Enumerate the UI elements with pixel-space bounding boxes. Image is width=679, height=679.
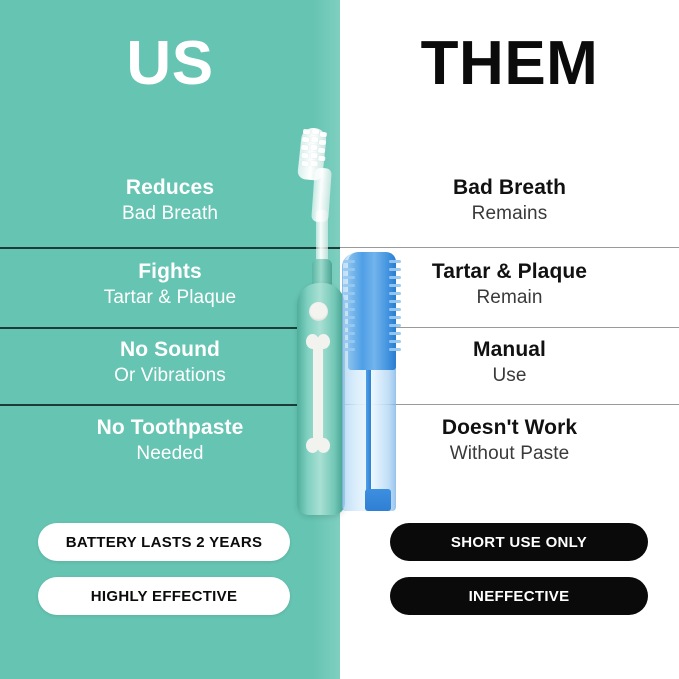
comparison-row-them-3: Manual Use xyxy=(340,336,679,389)
row-divider-1 xyxy=(0,247,679,248)
row-divider-3 xyxy=(0,404,679,405)
comparison-row-them-2: Tartar & Plaque Remain xyxy=(340,258,679,311)
row-secondary-text: Use xyxy=(340,363,679,389)
row-divider-2-left xyxy=(0,327,340,329)
badge-us-1: BATTERY LASTS 2 YEARS xyxy=(38,523,290,561)
row-primary-text: Doesn't Work xyxy=(340,414,679,441)
row-secondary-text: Tartar & Plaque xyxy=(0,285,340,311)
comparison-row-us-2: Fights Tartar & Plaque xyxy=(0,258,340,311)
badge-them-2: INEFFECTIVE xyxy=(390,577,648,615)
comparison-row-them-1: Bad Breath Remains xyxy=(340,174,679,227)
row-divider-1-right xyxy=(340,247,679,248)
row-primary-text: Fights xyxy=(0,258,340,285)
row-secondary-text: Bad Breath xyxy=(0,201,340,227)
row-secondary-text: Needed xyxy=(0,441,340,467)
row-divider-1-left xyxy=(0,247,340,249)
heading-them: THEM xyxy=(340,28,679,100)
row-primary-text: Reduces xyxy=(0,174,340,201)
heading-us: US xyxy=(0,28,340,100)
row-primary-text: Tartar & Plaque xyxy=(340,258,679,285)
row-primary-text: No Toothpaste xyxy=(0,414,340,441)
comparison-row-us-1: Reduces Bad Breath xyxy=(0,174,340,227)
row-divider-3-left xyxy=(0,404,340,406)
row-secondary-text: Remains xyxy=(340,201,679,227)
row-secondary-text: Without Paste xyxy=(340,441,679,467)
badge-us-2: HIGHLY EFFECTIVE xyxy=(38,577,290,615)
row-primary-text: Bad Breath xyxy=(340,174,679,201)
row-primary-text: Manual xyxy=(340,336,679,363)
badge-them-1: SHORT USE ONLY xyxy=(390,523,648,561)
row-secondary-text: Or Vibrations xyxy=(0,363,340,389)
comparison-row-them-4: Doesn't Work Without Paste xyxy=(340,414,679,467)
row-secondary-text: Remain xyxy=(340,285,679,311)
comparison-row-us-3: No Sound Or Vibrations xyxy=(0,336,340,389)
row-divider-2-right xyxy=(340,327,679,328)
row-primary-text: No Sound xyxy=(0,336,340,363)
row-divider-2 xyxy=(0,327,679,328)
comparison-infographic: US THEM Reduces Bad Breath Fights Tartar… xyxy=(0,0,679,679)
row-divider-3-right xyxy=(340,404,679,405)
comparison-row-us-4: No Toothpaste Needed xyxy=(0,414,340,467)
